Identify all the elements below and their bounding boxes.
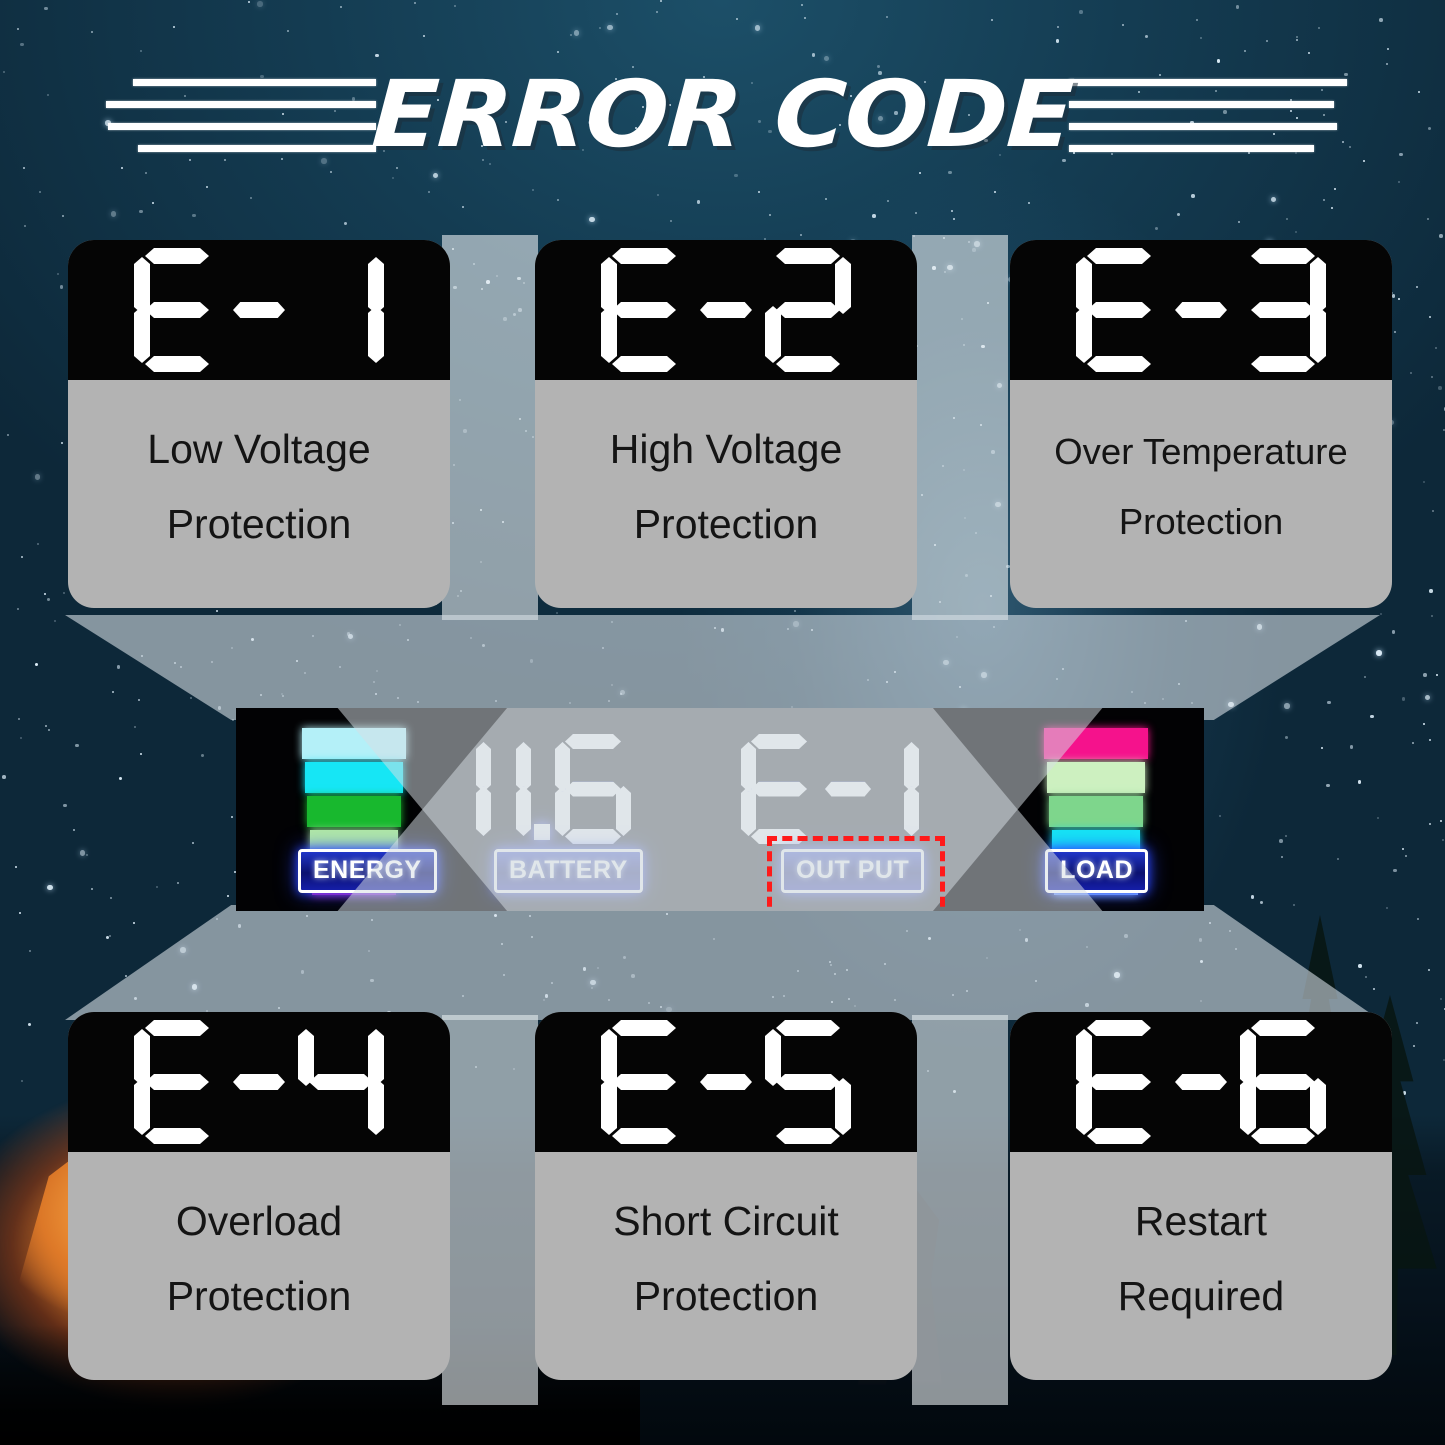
label-battery: BATTERY — [494, 849, 643, 893]
seven-segment-code — [134, 1020, 384, 1144]
error-card-e3[interactable]: Over Temperature Protection — [1010, 240, 1392, 608]
seven-segment-digit — [601, 248, 687, 372]
title-rule — [108, 123, 376, 130]
title-rule — [1069, 101, 1334, 108]
load-bar-segment — [1044, 728, 1148, 759]
segment-dash — [825, 782, 871, 797]
segment-dash — [700, 1074, 752, 1090]
seven-segment-digit — [491, 734, 531, 844]
title-rule — [1069, 123, 1337, 130]
error-desc-line1: Overload — [176, 1201, 342, 1242]
seven-segment-digit — [451, 734, 491, 844]
seven-segment-digit — [741, 734, 817, 844]
error-desc-line2: Required — [1118, 1276, 1284, 1317]
seven-segment-digit — [1076, 1020, 1162, 1144]
error-description: Restart Required — [1010, 1152, 1392, 1380]
battery-voltage-readout — [451, 734, 631, 844]
error-description: Low Voltage Protection — [68, 380, 450, 608]
segment-dash — [233, 302, 285, 318]
error-code-display — [535, 240, 917, 380]
error-description: Short Circuit Protection — [535, 1152, 917, 1380]
error-desc-line2: Protection — [167, 504, 352, 545]
seven-segment-digit — [555, 734, 631, 844]
error-desc-line2: Protection — [634, 1276, 819, 1317]
segment-dash — [1175, 1074, 1227, 1090]
error-code-display — [1010, 240, 1392, 380]
error-desc-line1: Over Temperature — [1054, 434, 1347, 471]
energy-bar-segment — [305, 762, 404, 793]
energy-bar-segment — [307, 796, 401, 827]
title-rules-right — [1069, 79, 1354, 152]
error-card-e5[interactable]: Short Circuit Protection — [535, 1012, 917, 1380]
seven-segment-digit — [1240, 248, 1326, 372]
error-desc-line2: Protection — [634, 504, 819, 545]
error-code-display — [68, 240, 450, 380]
seven-segment-digit — [765, 248, 851, 372]
load-bar-segment — [1049, 796, 1143, 827]
error-description: Over Temperature Protection — [1010, 380, 1392, 608]
seven-segment-digit — [1240, 1020, 1326, 1144]
error-desc-line1: Low Voltage — [147, 429, 370, 470]
title-rules-left — [91, 79, 376, 152]
error-desc-line1: Restart — [1135, 1201, 1267, 1242]
error-card-e6[interactable]: Restart Required — [1010, 1012, 1392, 1380]
inverter-lcd-panel[interactable]: ENERGY BATTERY OUT PUT LOAD — [236, 708, 1204, 911]
error-card-e2[interactable]: High Voltage Protection — [535, 240, 917, 608]
seven-segment-code — [134, 248, 384, 372]
seven-segment-digit — [298, 1020, 384, 1144]
seven-segment-digit — [601, 1020, 687, 1144]
seven-segment-digit — [134, 1020, 220, 1144]
error-desc-line2: Protection — [167, 1276, 352, 1317]
error-description: Overload Protection — [68, 1152, 450, 1380]
energy-bar-segment — [302, 728, 406, 759]
seven-segment-code — [601, 248, 851, 372]
page-title: ERROR CODE — [353, 69, 1092, 161]
page-title-band: ERROR CODE — [0, 60, 1445, 170]
title-rule — [106, 101, 376, 108]
seven-segment-code — [1076, 1020, 1326, 1144]
seven-segment-code — [601, 1020, 851, 1144]
label-load: LOAD — [1045, 849, 1148, 893]
segment-decimal-point — [534, 824, 550, 840]
seven-segment-digit — [134, 248, 220, 372]
seven-segment-code — [1076, 248, 1326, 372]
error-desc-line1: High Voltage — [610, 429, 843, 470]
error-card-e4[interactable]: Overload Protection — [68, 1012, 450, 1380]
error-code-display — [535, 1012, 917, 1152]
title-rule — [1069, 79, 1347, 86]
segment-dash — [1175, 302, 1227, 318]
title-rule — [138, 145, 376, 152]
seven-segment-digit — [765, 1020, 851, 1144]
error-code-display — [1010, 1012, 1392, 1152]
title-rule — [1069, 145, 1314, 152]
segment-dash — [700, 302, 752, 318]
seven-segment-digit — [1076, 248, 1162, 372]
error-desc-line1: Short Circuit — [613, 1201, 839, 1242]
seven-segment-digit — [298, 248, 384, 372]
label-output: OUT PUT — [781, 849, 924, 893]
error-card-e1[interactable]: Low Voltage Protection — [68, 240, 450, 608]
seven-segment-digit — [879, 734, 919, 844]
segment-dash — [233, 1074, 285, 1090]
label-energy: ENERGY — [298, 849, 437, 893]
load-bar-segment — [1047, 762, 1146, 793]
title-rule — [133, 79, 376, 86]
error-desc-line2: Protection — [1119, 504, 1283, 541]
output-code-readout — [741, 734, 919, 844]
error-description: High Voltage Protection — [535, 380, 917, 608]
error-code-display — [68, 1012, 450, 1152]
